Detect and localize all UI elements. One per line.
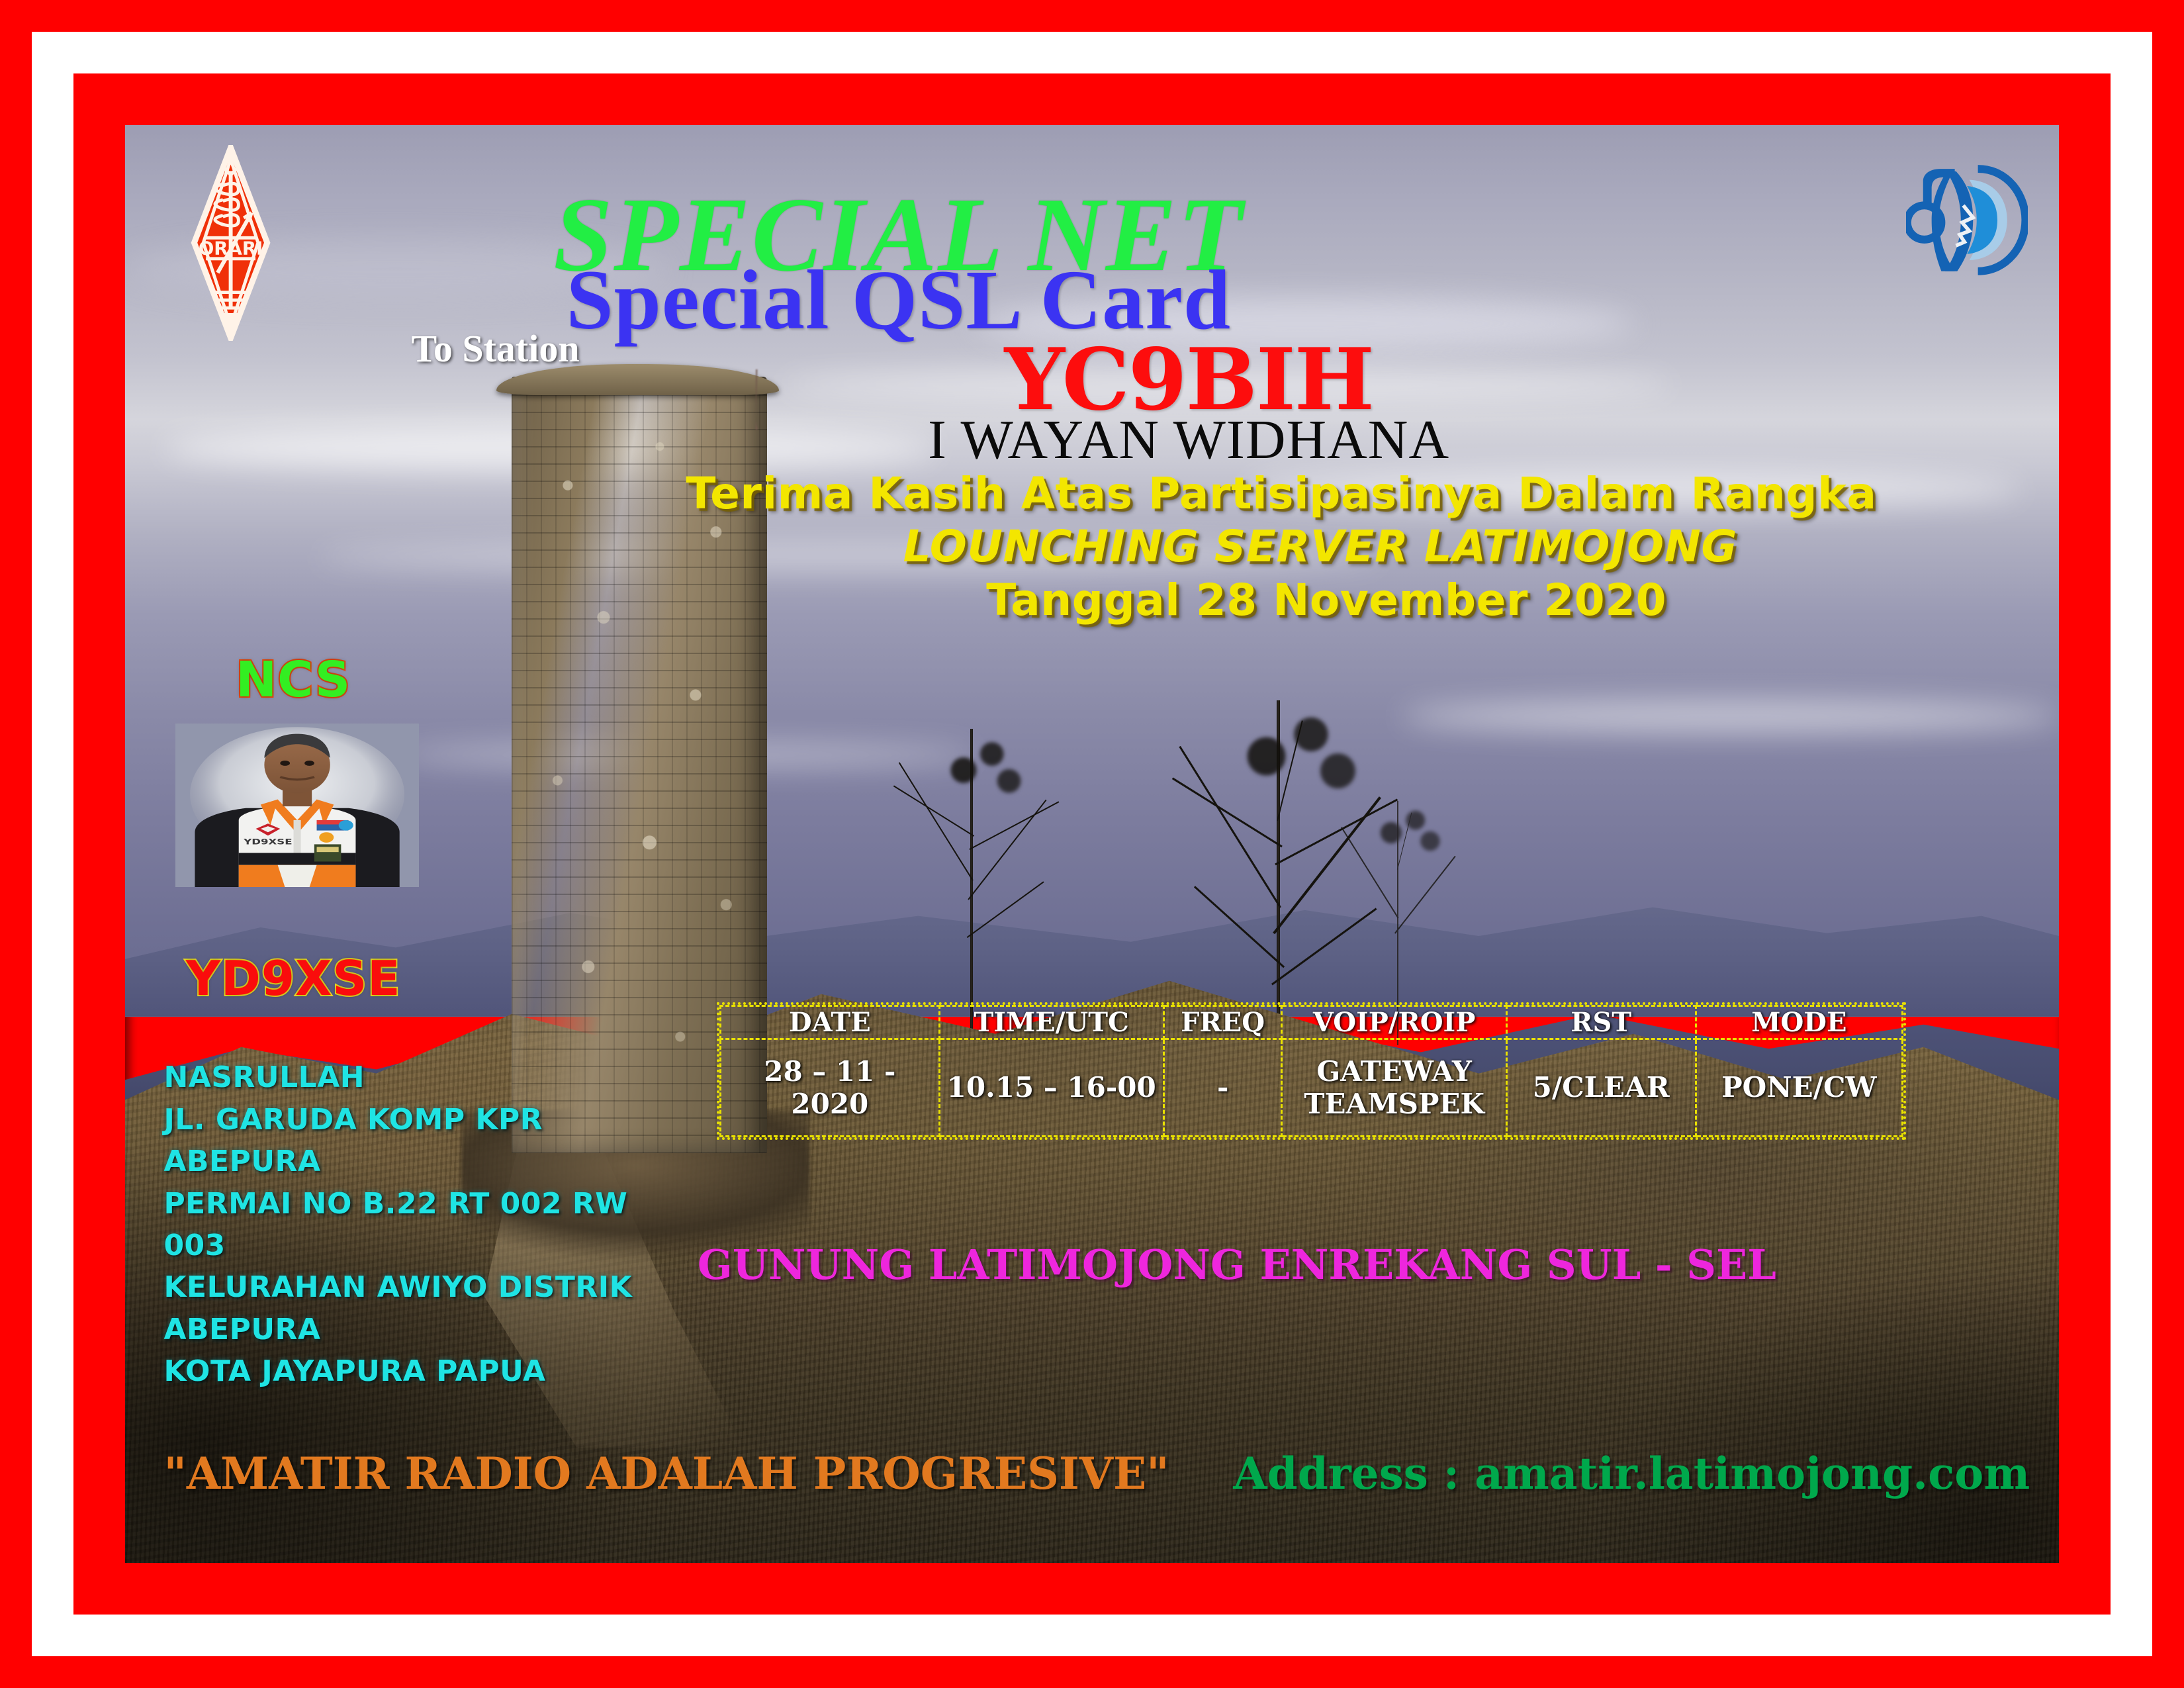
ncs-callsign: YD9XSE xyxy=(167,951,419,1006)
headphone-face-soundwave-logo xyxy=(1906,158,2028,282)
address-line: JL. GARUDA KOMP KPR xyxy=(163,1099,666,1141)
ncs-role-label: NCS xyxy=(187,651,400,708)
cell-voip-line-2: TEAMSPEK xyxy=(1304,1088,1484,1120)
to-station-label: To Station xyxy=(411,326,579,371)
address-line: ABEPURA xyxy=(163,1309,666,1350)
table-row: 28 – 11 - 2020 10.15 – 16-00 - GATEWAY T… xyxy=(721,1039,1903,1137)
cell-date: 28 – 11 - 2020 xyxy=(721,1039,939,1137)
cell-voip-line-1: GATEWAY xyxy=(1316,1055,1471,1088)
table-header-rst: RST xyxy=(1506,1006,1696,1039)
thanks-message: Terima Kasih Atas Partisipasinya Dalam R… xyxy=(686,467,1923,628)
recipient-operator-name: I WAYAN WIDHANA xyxy=(763,412,1614,468)
thanks-line-3: Tanggal 28 November 2020 xyxy=(686,574,1923,628)
uniform-callsign-text: YD9XSE xyxy=(243,837,292,846)
qso-log-table: DATE TIME/UTC FREQ VOIP/ROIP RST MODE xyxy=(717,1002,1906,1141)
address-line: PERMAI NO B.22 RT 002 RW 003 xyxy=(163,1183,666,1267)
table-header-time-utc: TIME/UTC xyxy=(939,1006,1163,1039)
address-line: ABEPURA xyxy=(163,1141,666,1182)
cell-rst: 5/CLEAR xyxy=(1506,1039,1696,1137)
cell-time-utc: 10.15 – 16-00 xyxy=(939,1039,1163,1137)
thanks-line-2: LOUNCHING SERVER LATIMOJONG xyxy=(686,520,1923,574)
address-line: KELURAHAN AWIYO DISTRIK xyxy=(163,1266,666,1308)
orari-logo-text: ORARI xyxy=(199,238,263,259)
ncs-postal-address: NASRULLAH JL. GARUDA KOMP KPR ABEPURA PE… xyxy=(163,1056,666,1392)
operator-portrait-photo: YD9XSE xyxy=(175,724,419,888)
table-header-date: DATE xyxy=(721,1006,939,1039)
orari-diamond-logo: ORARI xyxy=(183,145,278,340)
card-outer-red-border: ORARI xyxy=(0,0,2184,1688)
table-header-mode: MODE xyxy=(1696,1006,1903,1039)
table-header-row: DATE TIME/UTC FREQ VOIP/ROIP RST MODE xyxy=(721,1006,1903,1039)
cell-mode: PONE/CW xyxy=(1696,1039,1903,1137)
footer-motto: "AMATIR RADIO ADALAH PROGRESIVE" xyxy=(163,1448,1169,1499)
thanks-line-1: Terima Kasih Atas Partisipasinya Dalam R… xyxy=(686,467,1923,521)
table-header-freq: FREQ xyxy=(1163,1006,1282,1039)
table-header-voip-roip: VOIP/ROIP xyxy=(1282,1006,1506,1039)
cell-freq: - xyxy=(1163,1039,1282,1137)
mountain-location-caption: GUNUNG LATIMOJONG ENREKANG SUL - SEL xyxy=(698,1241,1897,1289)
card-white-border: ORARI xyxy=(32,32,2152,1656)
card-inner-red-border: ORARI xyxy=(73,73,2111,1615)
address-line: KOTA JAYAPURA PAPUA xyxy=(163,1350,666,1392)
cell-voip-roip: GATEWAY TEAMSPEK xyxy=(1282,1039,1506,1137)
address-line: NASRULLAH xyxy=(163,1056,666,1098)
qsl-card: ORARI xyxy=(125,125,2059,1563)
footer-web-address: Address : amatir.latimojong.com xyxy=(1233,1448,2030,1499)
